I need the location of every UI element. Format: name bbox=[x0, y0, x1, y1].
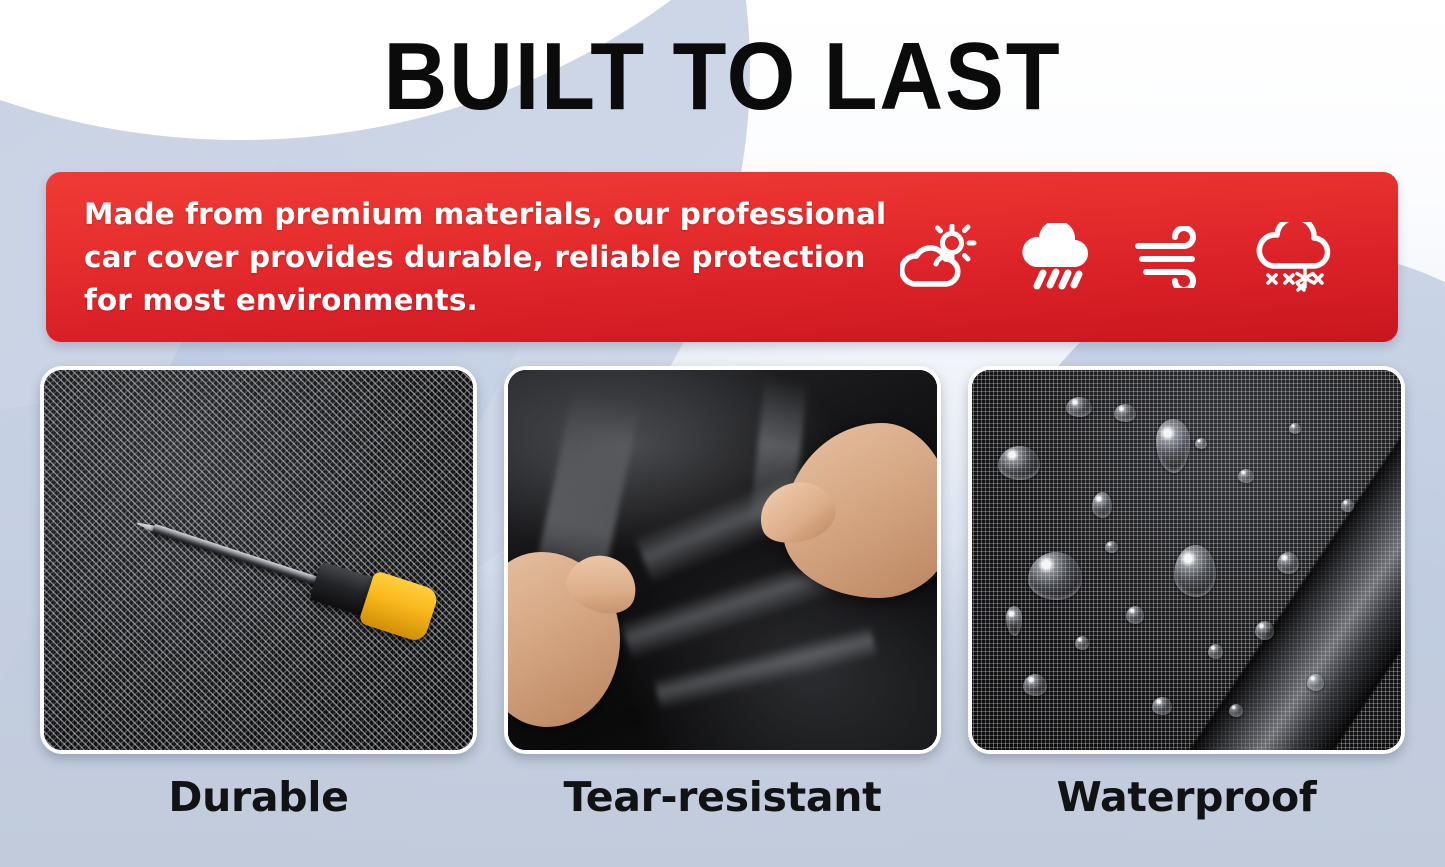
sun-behind-cloud-icon bbox=[900, 224, 978, 290]
feature-banner: Made from premium materials, our profess… bbox=[46, 172, 1398, 342]
wind-icon bbox=[1134, 226, 1214, 288]
feature-caption-waterproof: Waterproof bbox=[968, 772, 1405, 822]
rain-cloud-icon bbox=[1018, 223, 1094, 291]
weather-icon-row bbox=[900, 222, 1372, 292]
feature-caption-tear-resistant: Tear-resistant bbox=[504, 772, 941, 822]
banner-description: Made from premium materials, our profess… bbox=[84, 193, 900, 322]
snow-cloud-icon bbox=[1254, 222, 1336, 292]
feature-caption-durable: Durable bbox=[40, 772, 477, 822]
feature-panel-tear-resistant: Tear-resistant bbox=[504, 366, 941, 822]
feature-panel-durable: Durable bbox=[40, 366, 477, 822]
feature-panel-waterproof: Waterproof bbox=[968, 366, 1405, 822]
feature-panel-row: Durable bbox=[40, 366, 1405, 822]
waterproof-beading-photo bbox=[968, 366, 1405, 754]
product-feature-poster: BUILT TO LAST Made from premium material… bbox=[0, 0, 1445, 867]
tear-resistant-stretch-photo bbox=[504, 366, 941, 754]
durable-fabric-screwdriver-photo bbox=[40, 366, 477, 754]
page-title: BUILT TO LAST bbox=[58, 24, 1387, 130]
